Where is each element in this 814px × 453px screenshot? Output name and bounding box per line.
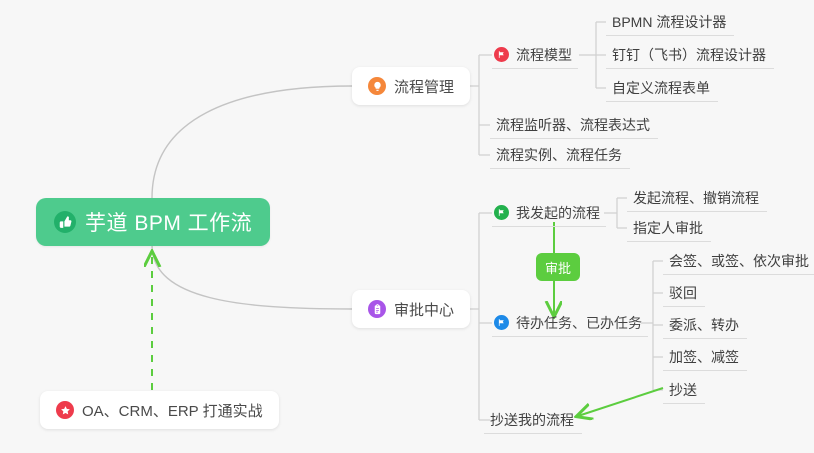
flag-icon: [494, 47, 509, 62]
root-node[interactable]: 芋道 BPM 工作流: [36, 198, 270, 246]
flag-icon: [494, 315, 509, 330]
edge-root-to-approval-center: [152, 245, 352, 309]
branch-label: 流程管理: [394, 76, 454, 97]
branch-approval-center[interactable]: 审批中心: [352, 290, 470, 328]
leaf-listener-expression[interactable]: 流程监听器、流程表达式: [490, 112, 658, 139]
leaf-bpmn-designer[interactable]: BPMN 流程设计器: [606, 9, 734, 36]
lightbulb-icon: [368, 77, 386, 95]
edge-root-to-process-management: [152, 86, 352, 198]
arrow-cc-to-mycc: [578, 388, 663, 416]
mindmap-canvas: 芋道 BPM 工作流 流程管理 流程模型 BPMN 流程设计器 钉钉（飞书）流程…: [0, 0, 814, 453]
node-label: 流程模型: [516, 45, 572, 65]
node-label: 我发起的流程: [516, 203, 600, 223]
leaf-delegate-transfer[interactable]: 委派、转办: [663, 312, 747, 339]
leaf-custom-form[interactable]: 自定义流程表单: [606, 75, 718, 102]
leaf-instance-task[interactable]: 流程实例、流程任务: [490, 142, 630, 169]
star-icon: [56, 401, 74, 419]
node-my-started-processes[interactable]: 我发起的流程: [492, 199, 606, 227]
branch-label: 审批中心: [394, 299, 454, 320]
root-label: 芋道 BPM 工作流: [85, 207, 252, 237]
leaf-reject[interactable]: 驳回: [663, 280, 705, 307]
flag-icon: [494, 205, 509, 220]
leaf-cc-to-me[interactable]: 抄送我的流程: [484, 407, 582, 434]
leaf-assignee-approval[interactable]: 指定人审批: [627, 215, 711, 242]
thumbs-up-icon: [54, 211, 76, 233]
node-label: 待办任务、已办任务: [516, 313, 642, 333]
node-process-model[interactable]: 流程模型: [492, 41, 578, 69]
leaf-countersign[interactable]: 会签、或签、依次审批: [663, 248, 814, 275]
annotation-card-integration[interactable]: OA、CRM、ERP 打通实战: [40, 391, 279, 429]
annotation-badge-approval: 审批: [536, 253, 580, 281]
clipboard-icon: [368, 300, 386, 318]
leaf-start-cancel-process[interactable]: 发起流程、撤销流程: [627, 185, 767, 212]
leaf-add-remove-sign[interactable]: 加签、减签: [663, 344, 747, 371]
leaf-cc[interactable]: 抄送: [663, 377, 705, 404]
annotation-label: OA、CRM、ERP 打通实战: [82, 400, 263, 421]
leaf-dingtalk-designer[interactable]: 钉钉（飞书）流程设计器: [606, 42, 774, 69]
node-todo-done-tasks[interactable]: 待办任务、已办任务: [492, 309, 648, 337]
branch-process-management[interactable]: 流程管理: [352, 67, 470, 105]
